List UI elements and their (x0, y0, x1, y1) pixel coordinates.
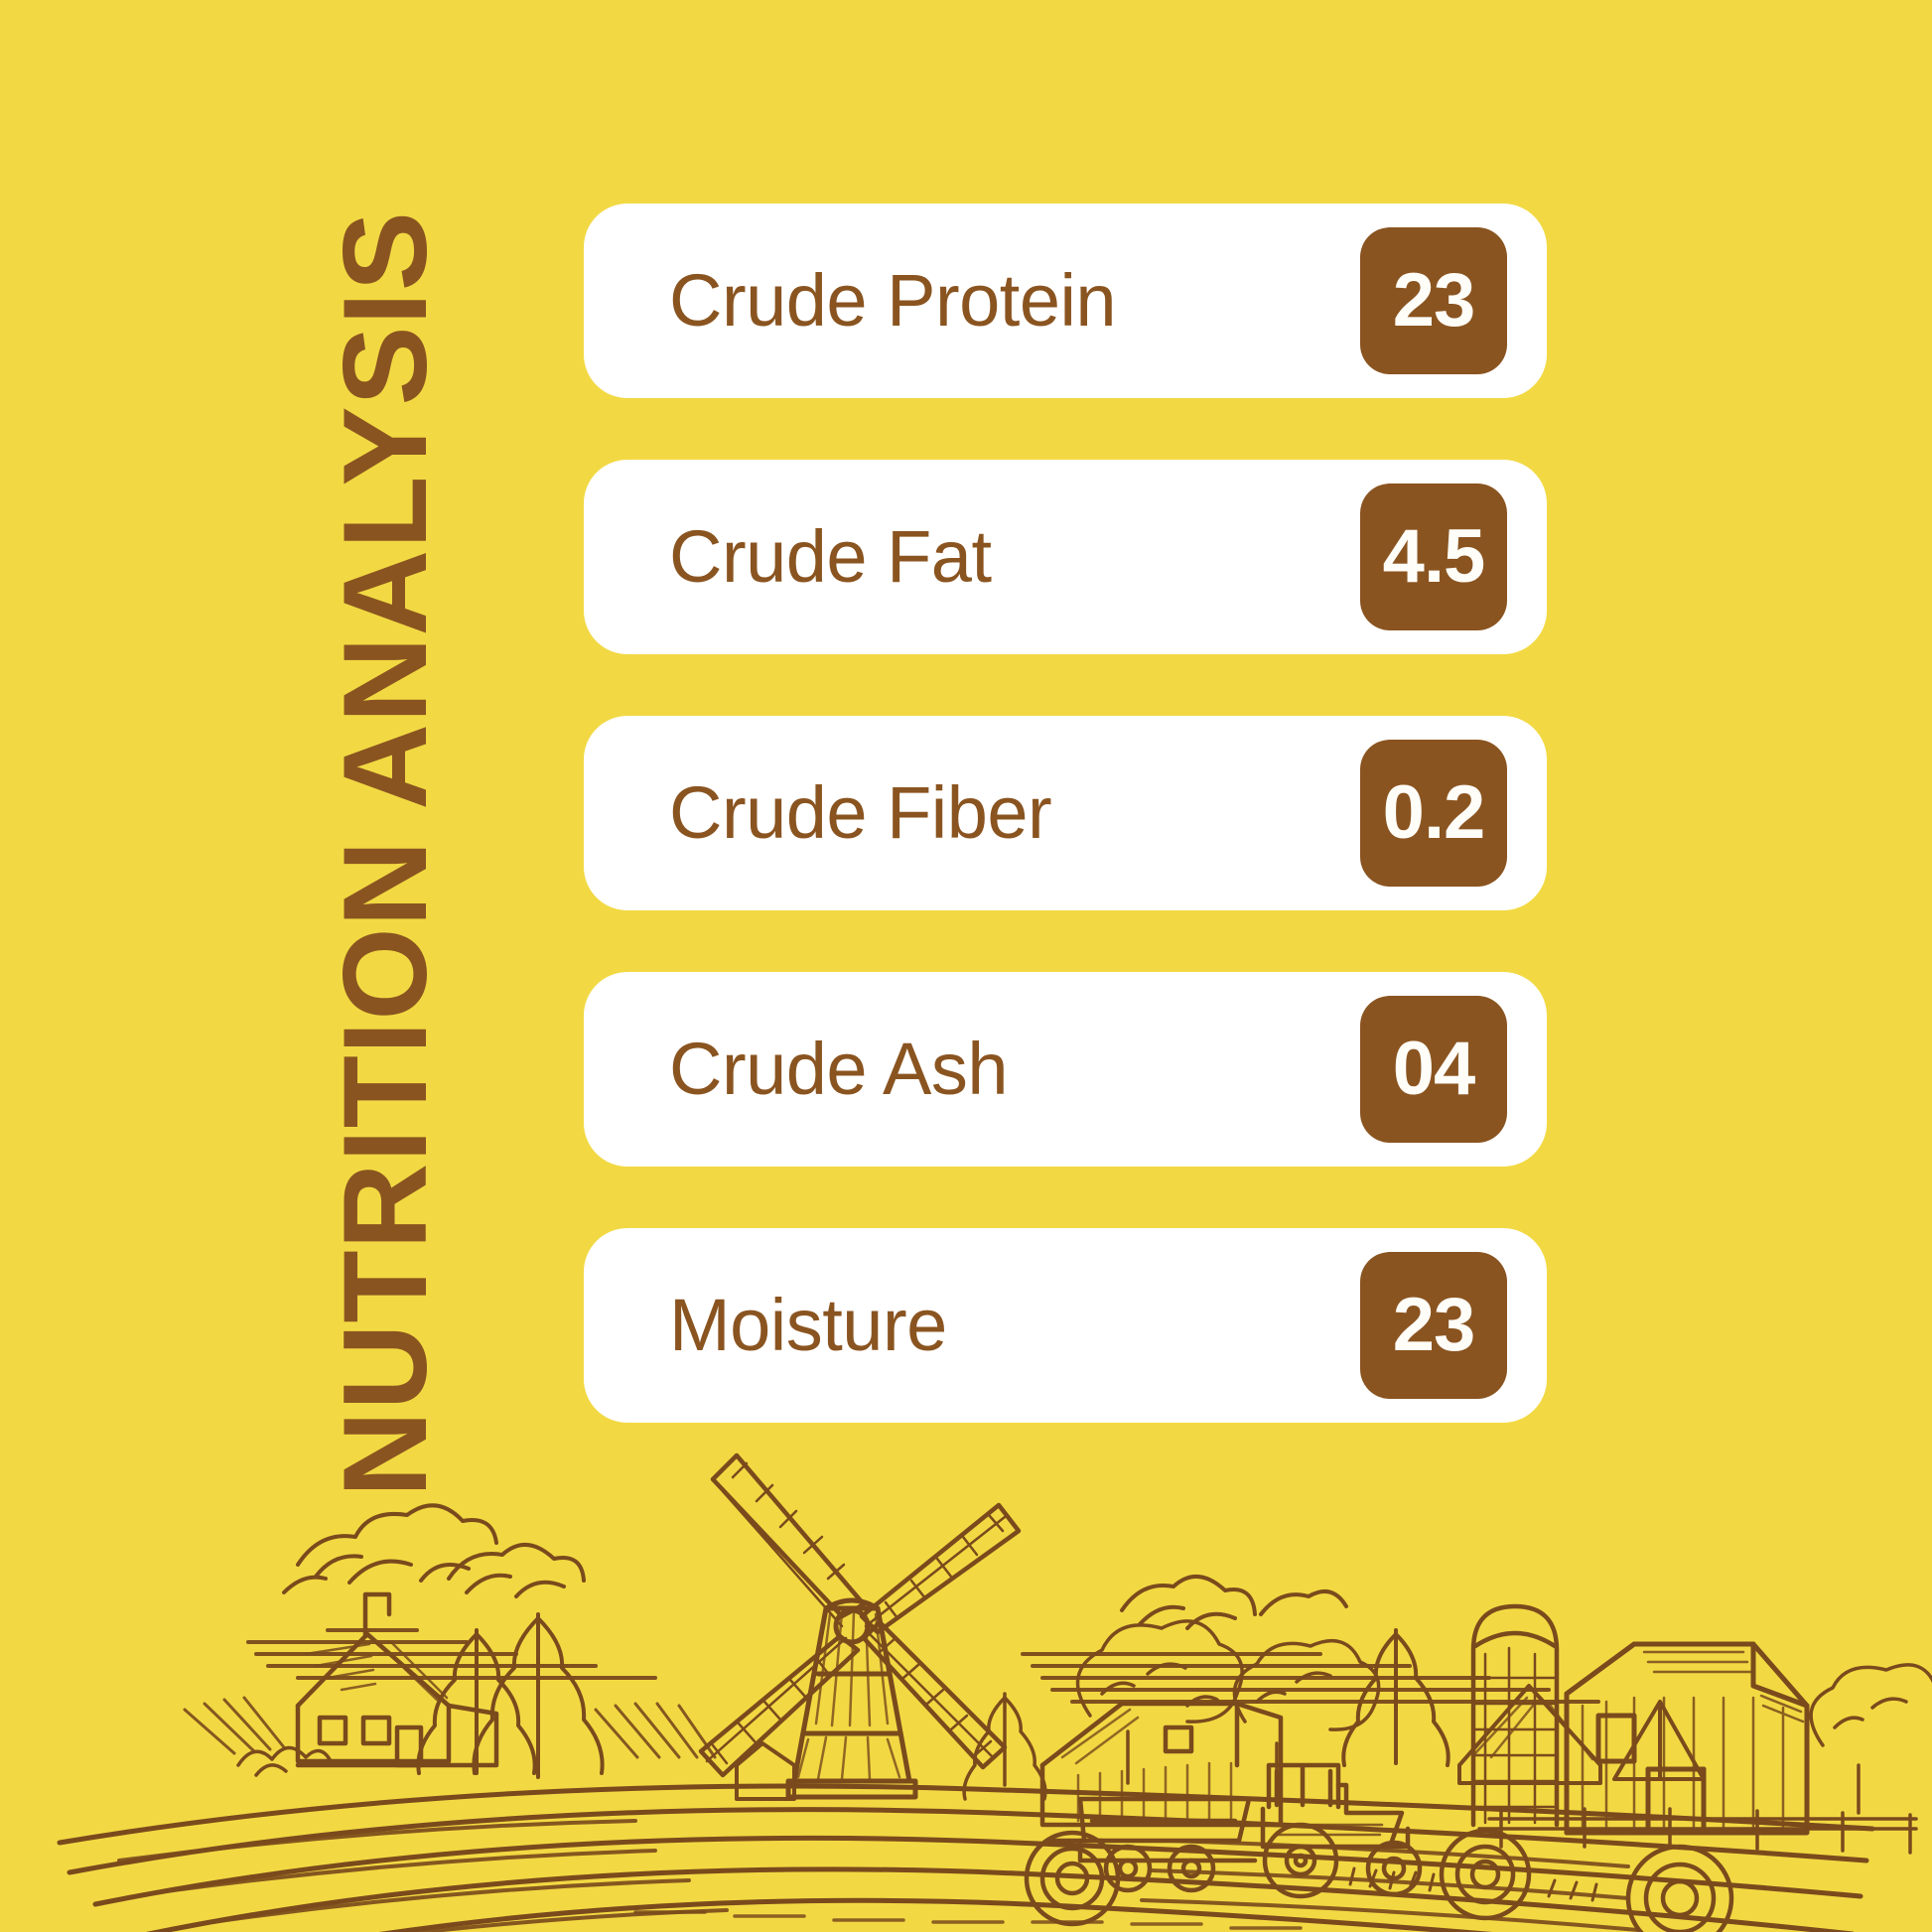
tree-conifer-right (1343, 1630, 1448, 1765)
nutrient-label: Crude Protein (669, 264, 1116, 338)
tent-right (1614, 1702, 1704, 1779)
nutrient-label: Crude Ash (669, 1033, 1008, 1106)
tree-conifer-left-2 (474, 1614, 602, 1777)
windmill-sails (701, 1455, 1019, 1775)
tractor (1263, 1765, 1420, 1896)
nutrient-value-badge: 4.5 (1360, 483, 1507, 630)
cloud-left (284, 1505, 496, 1592)
tree-round-2 (1234, 1641, 1378, 1785)
farm-shed (1042, 1704, 1281, 1825)
field-hatch-midleft (185, 1698, 715, 1757)
tree-conifer-left (418, 1630, 534, 1773)
nutrient-label: Crude Fat (669, 520, 992, 594)
nutrition-row-moisture[interactable]: Moisture 23 (584, 1228, 1547, 1423)
windmill (701, 1455, 1019, 1799)
tree-round-right (1811, 1665, 1932, 1813)
tree-round-1 (1078, 1621, 1243, 1783)
bush-left (238, 1747, 330, 1775)
nutrition-row-crude-protein[interactable]: Crude Protein 23 (584, 204, 1547, 398)
nutrition-row-crude-fat[interactable]: Crude Fat 4.5 (584, 460, 1547, 654)
nutrient-label: Moisture (669, 1289, 947, 1362)
nutrition-analysis-poster: NUTRITION ANALYSIS Crude Protein 23 Crud… (0, 0, 1932, 1932)
page-title: NUTRITION ANALYSIS (326, 210, 445, 1497)
hay-stubble (1350, 1868, 1596, 1900)
cloud-right (1122, 1577, 1346, 1628)
hay-bale-3 (1628, 1847, 1731, 1932)
nutrient-value-badge: 04 (1360, 996, 1507, 1143)
page-title-container: NUTRITION ANALYSIS (266, 213, 504, 1494)
nutrition-analysis-list: Crude Protein 23 Crude Fat 4.5 Crude Fib… (584, 204, 1547, 1423)
tree-conifer-barn (964, 1694, 1045, 1799)
horizon-hatch-left (248, 1630, 655, 1678)
fence (1479, 1809, 1916, 1853)
field-dashes (586, 1912, 1350, 1932)
nutrition-row-crude-ash[interactable]: Crude Ash 04 (584, 972, 1547, 1167)
field-lines (60, 1786, 1872, 1932)
nutrient-value-badge: 23 (1360, 1252, 1507, 1399)
barn (1567, 1644, 1807, 1833)
hay-bale-2 (1442, 1831, 1529, 1918)
nutrient-label: Crude Fiber (669, 776, 1051, 850)
hay-bale-1 (1027, 1833, 1118, 1924)
farmhouse (298, 1594, 496, 1765)
cloud-left-2 (449, 1545, 584, 1596)
nutrition-row-crude-fiber[interactable]: Crude Fiber 0.2 (584, 716, 1547, 910)
small-house-right (1459, 1686, 1600, 1783)
trailer (1080, 1799, 1255, 1890)
silo (1473, 1606, 1557, 1825)
nutrient-value-badge: 23 (1360, 227, 1507, 374)
nutrient-value-badge: 0.2 (1360, 740, 1507, 887)
field-furrows (119, 1821, 1638, 1932)
horizon-hatch-right (1023, 1654, 1598, 1702)
